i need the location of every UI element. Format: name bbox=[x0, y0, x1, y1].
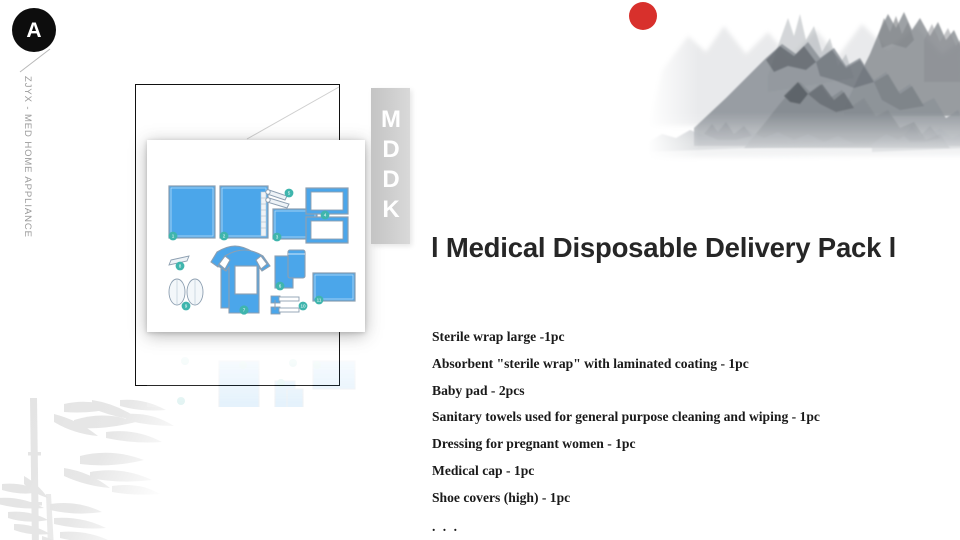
svg-text:4: 4 bbox=[324, 213, 327, 218]
product-photo-card[interactable]: 1 2 3 4 5 7 6 11 8 9 10 bbox=[147, 140, 365, 332]
svg-text:3: 3 bbox=[276, 235, 279, 240]
svg-text:5: 5 bbox=[288, 191, 291, 196]
brand-logo-badge: A bbox=[12, 8, 56, 52]
svg-text:10: 10 bbox=[300, 304, 306, 309]
list-item-ellipsis: . . . bbox=[432, 512, 932, 540]
brand-logo-letter: A bbox=[26, 20, 41, 41]
list-item: Absorbent "sterile wrap" with laminated … bbox=[432, 351, 932, 378]
svg-text:1: 1 bbox=[172, 234, 175, 239]
list-item: Shoe covers (high) - 1pc bbox=[432, 485, 932, 512]
bamboo-watermark-illustration bbox=[0, 398, 184, 540]
svg-text:9: 9 bbox=[185, 304, 188, 309]
slide-canvas: A ZJYX - MED HOME APPLIANCE bbox=[0, 0, 960, 540]
list-item: Medical cap - 1pc bbox=[432, 458, 932, 485]
list-item: Dressing for pregnant women - 1pc bbox=[432, 431, 932, 458]
mddk-side-tab-label: MDDK bbox=[379, 106, 403, 226]
svg-text:7: 7 bbox=[243, 308, 246, 313]
brand-vertical-text: ZJYX - MED HOME APPLIANCE bbox=[13, 76, 33, 256]
red-sun-circle bbox=[629, 2, 657, 30]
page-title: l Medical Disposable Delivery Pack l bbox=[431, 232, 896, 264]
list-item: Baby pad - 2pcs bbox=[432, 378, 932, 405]
ink-wash-mountain-illustration bbox=[648, 0, 960, 196]
list-item: Sanitary towels used for general purpose… bbox=[432, 404, 932, 431]
spec-list: Sterile wrap large -1pc Absorbent "steri… bbox=[432, 324, 932, 540]
svg-text:6: 6 bbox=[279, 284, 282, 289]
list-item: Sterile wrap large -1pc bbox=[432, 324, 932, 351]
svg-text:11: 11 bbox=[317, 298, 322, 303]
svg-text:2: 2 bbox=[223, 234, 226, 239]
mddk-side-tab: MDDK bbox=[371, 88, 410, 244]
svg-text:8: 8 bbox=[179, 264, 182, 269]
